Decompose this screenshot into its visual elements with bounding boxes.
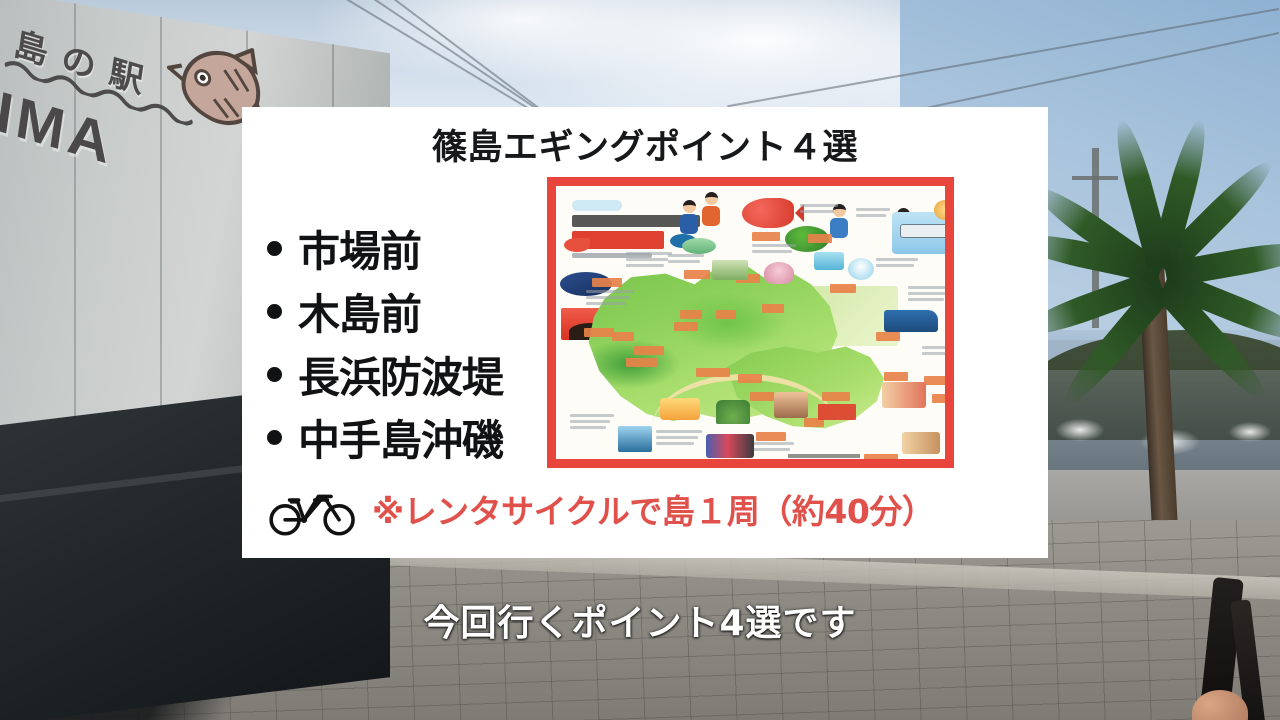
kid-illustration xyxy=(700,192,722,226)
map-label xyxy=(612,332,634,341)
map-label xyxy=(738,374,762,383)
map-label xyxy=(674,322,698,331)
map-caption xyxy=(656,442,694,445)
shrine-photo xyxy=(618,426,652,452)
kid-illustration xyxy=(678,200,700,234)
map-label xyxy=(696,368,730,377)
map-label xyxy=(830,284,856,293)
sea-bream-illustration xyxy=(742,198,794,228)
map-caption xyxy=(908,298,944,301)
people-illustration xyxy=(706,434,754,458)
map-label xyxy=(752,232,780,241)
map-caption xyxy=(752,448,790,451)
point-list: 市場前 木島前 長浜防波堤 中手島沖磯 xyxy=(267,217,577,469)
list-item-label: 長浜防波堤 xyxy=(298,344,503,405)
map-label xyxy=(584,328,614,337)
map-label xyxy=(876,332,900,341)
map-caption xyxy=(922,346,945,349)
map-caption xyxy=(752,244,796,247)
map-label xyxy=(756,432,786,441)
map-label xyxy=(762,304,784,313)
map-label xyxy=(808,234,832,243)
rental-cycle-note: ※レンタサイクルで島１周（約40分） xyxy=(268,482,934,536)
list-item: 中手島沖磯 xyxy=(267,406,577,469)
map-caption xyxy=(626,264,664,267)
map-label xyxy=(684,270,710,279)
map-caption xyxy=(668,260,700,263)
map-caption xyxy=(752,250,792,253)
utility-pole-arm xyxy=(1072,176,1118,180)
map-label-primary xyxy=(818,404,856,420)
map-label xyxy=(884,372,908,381)
bullet-dot-icon xyxy=(267,241,282,256)
map-caption xyxy=(656,436,698,439)
map-label xyxy=(626,358,658,367)
map-caption xyxy=(668,254,704,257)
map-caption xyxy=(586,296,630,299)
map-caption xyxy=(570,426,606,429)
beach-illustration xyxy=(660,398,700,420)
map-caption xyxy=(586,290,634,293)
map-caption xyxy=(876,264,914,267)
shinojima-tourist-map xyxy=(547,177,954,468)
map-caption xyxy=(800,210,834,213)
family-illustration xyxy=(774,392,808,418)
map-caption xyxy=(570,414,614,417)
bullet-dot-icon xyxy=(267,367,282,382)
shrine-illustration xyxy=(716,400,750,424)
list-item-label: 中手島沖磯 xyxy=(298,407,503,468)
whale-icon xyxy=(564,238,590,252)
sunset-illustration xyxy=(848,258,874,280)
map-label xyxy=(924,376,945,385)
map-caption xyxy=(626,252,672,255)
info-card: 篠島エギングポイント４選 市場前 木島前 長浜防波堤 中手島沖磯 xyxy=(242,107,1048,558)
list-item: 長浜防波堤 xyxy=(267,343,577,406)
fishing-boat-illustration xyxy=(884,310,938,332)
map-caption xyxy=(856,208,890,211)
map-caption xyxy=(856,214,886,217)
map-label xyxy=(750,392,774,401)
people-illustration xyxy=(882,382,926,408)
bicycle-icon xyxy=(268,482,358,536)
video-subtitle: 今回行くポイント4選です xyxy=(0,594,1280,646)
map-caption xyxy=(922,352,945,355)
list-item: 木島前 xyxy=(267,280,577,343)
video-frame: 島の駅 JIMA xyxy=(0,0,1280,720)
map-caption xyxy=(570,420,610,423)
map-label xyxy=(680,310,702,319)
people-illustration xyxy=(902,432,940,454)
pool-illustration xyxy=(814,252,844,270)
map-caption xyxy=(908,292,945,295)
list-item-label: 市場前 xyxy=(298,218,421,279)
map-caption xyxy=(752,442,794,445)
map-label xyxy=(716,310,736,319)
list-item: 市場前 xyxy=(267,217,577,280)
map-scale-bar xyxy=(788,454,860,458)
islet-small xyxy=(682,238,716,254)
map-caption xyxy=(800,204,838,207)
bullet-dot-icon xyxy=(267,430,282,445)
map-caption xyxy=(876,258,918,261)
map-caption xyxy=(656,430,702,433)
rental-cycle-text: ※レンタサイクルで島１周（約40分） xyxy=(372,485,934,533)
map-label xyxy=(864,454,898,459)
bullet-dot-icon xyxy=(267,304,282,319)
map-caption xyxy=(586,302,626,305)
map-label xyxy=(634,346,664,355)
page-title: 篠島エギングポイント４選 xyxy=(242,119,1048,170)
map-caption xyxy=(626,258,668,261)
map-label xyxy=(932,394,945,403)
list-item-label: 木島前 xyxy=(298,281,421,342)
ferry-illustration xyxy=(900,224,945,238)
map-label xyxy=(592,278,622,287)
map-caption xyxy=(908,286,945,289)
map-label xyxy=(822,392,850,401)
torii-illustration xyxy=(712,260,748,280)
fish-market-illustration xyxy=(764,262,794,284)
